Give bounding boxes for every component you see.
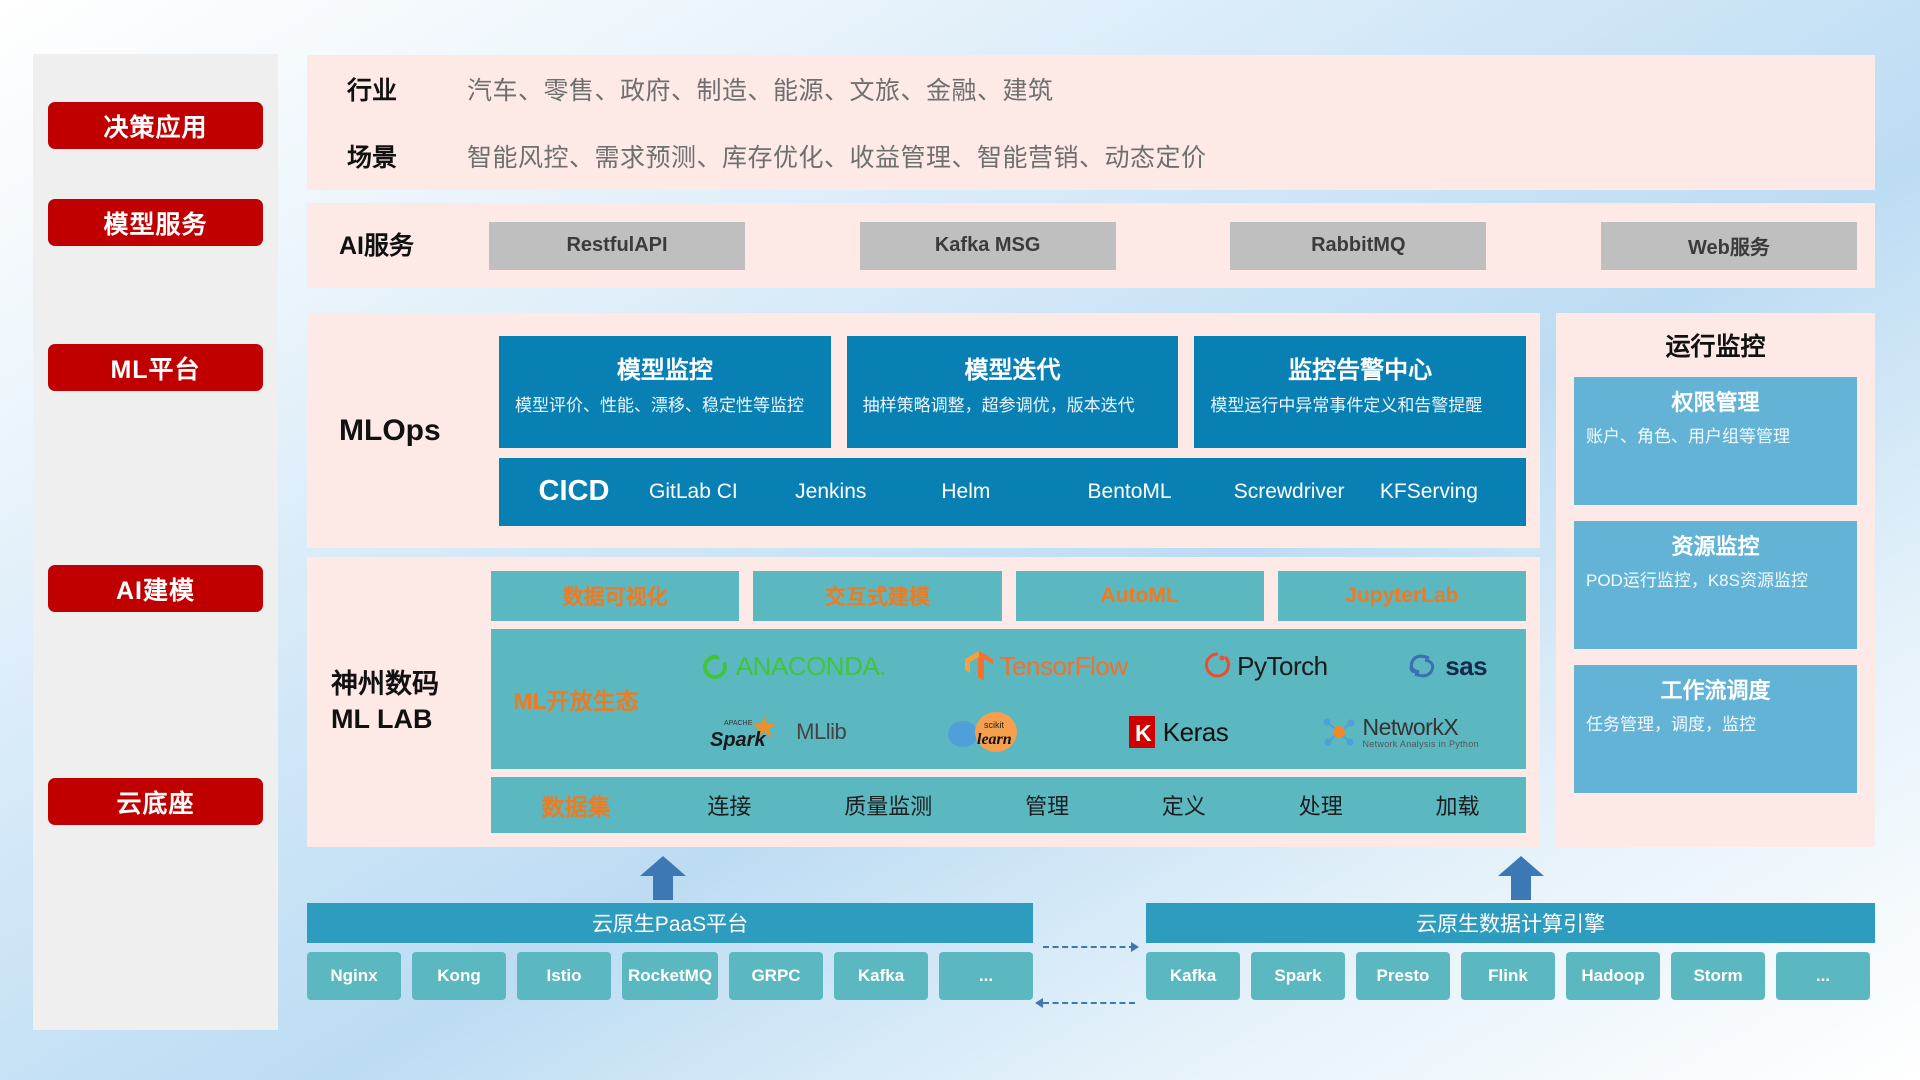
industry-value: 汽车、零售、政府、制造、能源、文旅、金融、建筑 <box>467 71 1054 107</box>
cicd-bar: CICD GitLab CI Jenkins Helm BentoML Scre… <box>499 458 1526 526</box>
networkx-logo: NetworkX Network Analysis in Python <box>1322 715 1478 749</box>
dashed-arrow-left <box>1043 1002 1135 1004</box>
card-title: 工作流调度 <box>1586 673 1845 705</box>
card-desc: 抽样策略调整，超参调优，版本迭代 <box>863 395 1163 418</box>
cicd-title: CICD <box>499 475 649 508</box>
networkx-icon <box>1322 715 1356 749</box>
card-desc: 模型评价、性能、漂移、稳定性等监控 <box>515 395 815 418</box>
service-chip-kafka-msg[interactable]: Kafka MSG <box>860 222 1116 270</box>
card-title: 模型迭代 <box>863 350 1163 385</box>
cicd-item-bentoml[interactable]: BentoML <box>1088 480 1234 503</box>
engine-chip-storm[interactable]: Storm <box>1671 952 1765 1000</box>
mlops-card-alert-center[interactable]: 监控告警中心 模型运行中异常事件定义和告警提醒 <box>1194 336 1526 448</box>
sas-wordmark: sas <box>1445 651 1487 682</box>
ml-lab-band: 神州数码 ML LAB 数据可视化 交互式建模 AutoML JupyterLa… <box>307 557 1540 847</box>
eco-logo-row-2: APACHE Spark MLlib scikit lear <box>661 701 1526 763</box>
dashed-arrow-right-head <box>1131 942 1139 952</box>
paas-chip-row: Nginx Kong Istio RocketMQ GRPC Kafka ... <box>307 952 1033 1000</box>
card-title: 监控告警中心 <box>1210 350 1510 385</box>
engine-chip-hadoop[interactable]: Hadoop <box>1566 952 1660 1000</box>
card-desc: 任务管理，调度，监控 <box>1586 713 1845 737</box>
card-desc: 账户、角色、用户组等管理 <box>1586 425 1845 449</box>
pytorch-logo: PyTorch <box>1205 651 1327 682</box>
sas-icon <box>1405 651 1439 681</box>
svg-text:K: K <box>1135 720 1152 746</box>
card-desc: POD运行监控，K8S资源监控 <box>1586 569 1845 593</box>
ai-service-chip-list: RestfulAPI Kafka MSG RabbitMQ Web服务 <box>489 222 1875 270</box>
mlops-card-list: 模型监控 模型评价、性能、漂移、稳定性等监控 模型迭代 抽样策略调整，超参调优，… <box>499 336 1526 448</box>
dataset-item-connect[interactable]: 连接 <box>707 789 751 821</box>
mlops-band: MLOps 模型监控 模型评价、性能、漂移、稳定性等监控 模型迭代 抽样策略调整… <box>307 313 1540 548</box>
anaconda-logo: ANACONDA. <box>700 651 886 682</box>
sas-logo: sas <box>1405 651 1487 682</box>
engine-chip-row: Kafka Spark Presto Flink Hadoop Storm ..… <box>1146 952 1875 1000</box>
ml-open-ecosystem: ML开放生态 ANACONDA. <box>491 629 1526 769</box>
ai-service-label: AI服务 <box>339 231 489 261</box>
cicd-item-screwdriver[interactable]: Screwdriver <box>1234 480 1380 503</box>
ai-service-band: AI服务 RestfulAPI Kafka MSG RabbitMQ Web服务 <box>307 203 1875 288</box>
paas-platform-bar: 云原生PaaS平台 <box>307 903 1033 943</box>
scenario-label: 场景 <box>347 138 467 174</box>
svg-text:learn: learn <box>977 731 1012 748</box>
mlops-label: MLOps <box>339 413 499 449</box>
application-band: 行业 汽车、零售、政府、制造、能源、文旅、金融、建筑 场景 智能风控、需求预测、… <box>307 55 1875 190</box>
industry-row: 行业 汽车、零售、政府、制造、能源、文旅、金融、建筑 <box>307 55 1875 123</box>
lab-tool-automl[interactable]: AutoML <box>1016 571 1264 621</box>
runtime-monitoring-title: 运行监控 <box>1574 327 1857 363</box>
service-chip-web[interactable]: Web服务 <box>1601 222 1857 270</box>
paas-chip-istio[interactable]: Istio <box>517 952 611 1000</box>
dataset-item-quality-monitor[interactable]: 质量监测 <box>844 789 932 821</box>
pytorch-icon <box>1205 651 1231 681</box>
scikit-learn-logo: scikit learn <box>941 710 1033 754</box>
ml-lab-label-line2: ML LAB <box>331 702 491 737</box>
mllib-wordmark: MLlib <box>796 719 846 745</box>
networkx-wordmark: NetworkX <box>1362 716 1478 739</box>
service-chip-rabbitmq[interactable]: RabbitMQ <box>1230 222 1486 270</box>
rail-tag-decision-app[interactable]: 决策应用 <box>48 102 263 149</box>
cicd-item-jenkins[interactable]: Jenkins <box>795 480 941 503</box>
rail-tag-cloud-base[interactable]: 云底座 <box>48 778 263 825</box>
svg-text:APACHE: APACHE <box>724 720 753 727</box>
paas-chip-grpc[interactable]: GRPC <box>729 952 823 1000</box>
ml-lab-label: 神州数码 ML LAB <box>331 667 491 737</box>
dashed-arrow-right <box>1043 946 1135 948</box>
spark-mllib-logo: APACHE Spark MLlib <box>708 712 846 752</box>
engine-chip-kafka[interactable]: Kafka <box>1146 952 1240 1000</box>
runtime-monitoring-panel: 运行监控 权限管理 账户、角色、用户组等管理 资源监控 POD运行监控，K8S资… <box>1556 313 1875 847</box>
industry-label: 行业 <box>347 71 467 107</box>
lab-tool-jupyterlab[interactable]: JupyterLab <box>1278 571 1526 621</box>
dataset-bar: 数据集 连接 质量监测 管理 定义 处理 加载 <box>491 777 1526 833</box>
pytorch-wordmark: PyTorch <box>1237 651 1327 682</box>
card-title: 权限管理 <box>1586 385 1845 417</box>
cicd-item-kfserving[interactable]: KFServing <box>1380 480 1526 503</box>
tensorflow-icon <box>964 650 994 682</box>
networkx-subtitle: Network Analysis in Python <box>1362 739 1478 749</box>
anaconda-icon <box>700 651 730 681</box>
eco-logo-row-1: ANACONDA. TensorFlow <box>661 635 1526 697</box>
lab-tool-interactive-modeling[interactable]: 交互式建模 <box>753 571 1001 621</box>
dataset-item-process[interactable]: 处理 <box>1299 789 1343 821</box>
dataset-label: 数据集 <box>491 788 661 822</box>
dataset-item-list: 连接 质量监测 管理 定义 处理 加载 <box>661 789 1526 821</box>
monitor-card-permission[interactable]: 权限管理 账户、角色、用户组等管理 <box>1574 377 1857 505</box>
card-title: 模型监控 <box>515 350 815 385</box>
anaconda-wordmark: ANACONDA. <box>736 651 886 682</box>
dataset-item-manage[interactable]: 管理 <box>1025 789 1069 821</box>
mlops-card-model-monitoring[interactable]: 模型监控 模型评价、性能、漂移、稳定性等监控 <box>499 336 831 448</box>
paas-chip-kafka[interactable]: Kafka <box>834 952 928 1000</box>
engine-chip-flink[interactable]: Flink <box>1461 952 1555 1000</box>
eco-logo-grid: ANACONDA. TensorFlow <box>661 635 1526 763</box>
engine-chip-more[interactable]: ... <box>1776 952 1870 1000</box>
cicd-item-helm[interactable]: Helm <box>941 480 1087 503</box>
svg-text:Spark: Spark <box>710 729 766 751</box>
up-arrow-paas <box>640 856 686 900</box>
cicd-item-list: GitLab CI Jenkins Helm BentoML Screwdriv… <box>649 480 1526 503</box>
mlops-card-model-iteration[interactable]: 模型迭代 抽样策略调整，超参调优，版本迭代 <box>847 336 1179 448</box>
lab-tool-data-visualization[interactable]: 数据可视化 <box>491 571 739 621</box>
paas-chip-more[interactable]: ... <box>939 952 1033 1000</box>
scenario-value: 智能风控、需求预测、库存优化、收益管理、智能营销、动态定价 <box>467 138 1207 174</box>
mlops-content: 模型监控 模型评价、性能、漂移、稳定性等监控 模型迭代 抽样策略调整，超参调优，… <box>499 336 1540 526</box>
service-chip-restfulapi[interactable]: RestfulAPI <box>489 222 745 270</box>
card-title: 资源监控 <box>1586 529 1845 561</box>
engine-chip-spark[interactable]: Spark <box>1251 952 1345 1000</box>
scenario-row: 场景 智能风控、需求预测、库存优化、收益管理、智能营销、动态定价 <box>307 123 1875 191</box>
paas-chip-nginx[interactable]: Nginx <box>307 952 401 1000</box>
engine-chip-presto[interactable]: Presto <box>1356 952 1450 1000</box>
dataset-item-load[interactable]: 加载 <box>1436 789 1480 821</box>
monitor-card-workflow[interactable]: 工作流调度 任务管理，调度，监控 <box>1574 665 1857 793</box>
rail-tag-model-service[interactable]: 模型服务 <box>48 199 263 246</box>
keras-logo: K Keras <box>1127 714 1228 750</box>
ml-lab-label-line1: 神州数码 <box>331 667 491 702</box>
paas-chip-kong[interactable]: Kong <box>412 952 506 1000</box>
monitor-card-resource[interactable]: 资源监控 POD运行监控，K8S资源监控 <box>1574 521 1857 649</box>
spark-icon: APACHE Spark <box>708 712 790 752</box>
card-desc: 模型运行中异常事件定义和告警提醒 <box>1210 395 1510 418</box>
diagram-canvas: 决策应用 模型服务 ML平台 AI建模 云底座 行业 汽车、零售、政府、制造、能… <box>0 0 1920 1080</box>
cicd-item-gitlab-ci[interactable]: GitLab CI <box>649 480 795 503</box>
dataset-item-define[interactable]: 定义 <box>1162 789 1206 821</box>
scikit-learn-icon: scikit learn <box>941 710 1033 754</box>
eco-label: ML开放生态 <box>491 682 661 716</box>
ml-lab-content: 数据可视化 交互式建模 AutoML JupyterLab ML开放生态 ANA… <box>491 571 1540 833</box>
up-arrow-engine <box>1498 856 1544 900</box>
rail-tag-ml-platform[interactable]: ML平台 <box>48 344 263 391</box>
keras-wordmark: Keras <box>1163 717 1228 748</box>
paas-chip-rocketmq[interactable]: RocketMQ <box>622 952 718 1000</box>
rail-tag-ai-modeling[interactable]: AI建模 <box>48 565 263 612</box>
ml-lab-tool-list: 数据可视化 交互式建模 AutoML JupyterLab <box>491 571 1526 621</box>
dashed-arrow-left-head <box>1035 998 1043 1008</box>
tensorflow-wordmark: TensorFlow <box>1000 651 1128 682</box>
data-engine-bar: 云原生数据计算引擎 <box>1146 903 1875 943</box>
keras-icon: K <box>1127 714 1157 750</box>
tensorflow-logo: TensorFlow <box>964 650 1128 682</box>
svg-text:scikit: scikit <box>984 720 1004 730</box>
